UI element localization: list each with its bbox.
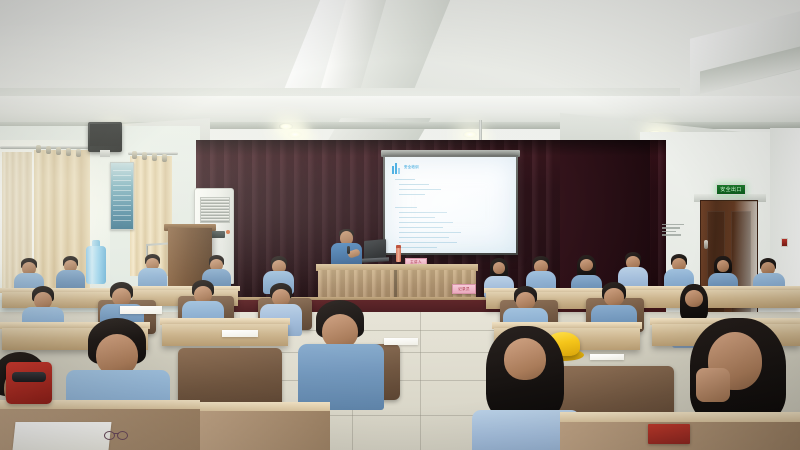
desk (622, 290, 800, 308)
slide-text-line (399, 242, 457, 243)
name-placard-right: 记录员 (452, 284, 476, 294)
slide-text-line (399, 222, 453, 223)
wall-notice-small (662, 224, 684, 238)
torso (298, 344, 384, 410)
paper-on-desk (384, 338, 418, 345)
handheld-microphone-icon (347, 246, 350, 254)
notice-line (113, 210, 131, 211)
hand (696, 368, 730, 402)
slide-logo-icon (392, 163, 400, 174)
curtain-ring-1 (36, 145, 41, 153)
head (493, 262, 505, 274)
slide-text-line (399, 232, 461, 233)
slide-text-line (399, 237, 449, 238)
slide-text-line (395, 207, 417, 208)
notice-line (113, 180, 131, 181)
head (504, 338, 546, 380)
placard-text: 记录员 (458, 287, 470, 292)
fire-alarm-box[interactable] (781, 238, 788, 247)
speaker-grille-icon (90, 124, 120, 146)
table-water-bottle (396, 248, 401, 262)
door-handle[interactable] (704, 240, 708, 249)
screen-surface: 安全培训 (385, 157, 516, 253)
head (717, 260, 729, 272)
notice-line (113, 190, 131, 191)
wall-notice-line (662, 224, 684, 225)
notice-line (113, 170, 131, 171)
wall-notice-board (110, 162, 134, 230)
exit-sign-text: 安全出口 (720, 186, 742, 193)
head (685, 290, 703, 307)
slide-logo-text: 安全培训 (404, 164, 419, 169)
paper-on-desk (13, 422, 112, 450)
slide-text-line (399, 227, 443, 228)
water-cooler-bottle (86, 246, 106, 284)
notice-line (113, 205, 131, 206)
wall-speaker (88, 122, 122, 152)
wall-notice-line (662, 227, 680, 228)
ac-vent-icon (200, 197, 230, 223)
notice-line (113, 185, 131, 186)
slide-text-line (395, 179, 415, 180)
notice-line (113, 195, 131, 196)
red-notebook (648, 424, 690, 444)
curtain-ring-5 (76, 149, 81, 157)
ac-power-led-icon (226, 230, 230, 234)
ceiling-downlight-4 (463, 131, 477, 138)
projection-screen: 安全培训 (383, 155, 518, 255)
speaker-bracket (100, 150, 110, 157)
wall-notice-line (662, 231, 676, 232)
curtain-ring-9 (162, 154, 167, 162)
eyeglasses-bridge (114, 433, 119, 434)
notice-line (113, 220, 131, 221)
curtain-ring-3 (56, 147, 61, 155)
floor-tile-line (420, 312, 421, 450)
slide-text-line (399, 194, 425, 195)
slide-text-line (399, 212, 447, 213)
curtain-ring-2 (46, 146, 51, 154)
head (580, 259, 593, 271)
curtain-ring-4 (66, 148, 71, 156)
slide-text-line (399, 247, 437, 248)
curtain-ring-6 (132, 151, 137, 159)
exit-sign: 安全出口 (716, 184, 746, 195)
slide-text-line (399, 184, 429, 185)
notice-line (113, 175, 131, 176)
paper-on-desk (590, 354, 624, 360)
desk (200, 411, 330, 450)
paper-on-desk (222, 330, 258, 337)
red-backpack (6, 362, 52, 404)
backpack-strap (12, 372, 46, 382)
slide-text-line (399, 217, 435, 218)
slide-text-line (399, 189, 441, 190)
paper-on-desk (120, 306, 162, 314)
notice-line (113, 200, 131, 201)
curtain-ring-7 (142, 152, 147, 160)
wall-notice-line (662, 234, 681, 235)
ceiling-downlight-3 (288, 131, 302, 138)
curtain-ring-8 (152, 153, 157, 161)
classroom-photo: 安全培训 安全出口 主讲人 (0, 0, 800, 450)
head (604, 288, 624, 306)
notice-line (113, 215, 131, 216)
